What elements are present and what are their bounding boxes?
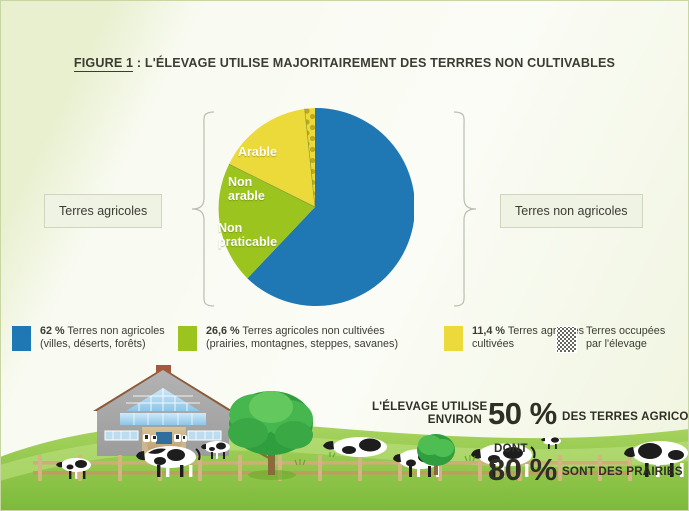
bottom-statistics: L'ÉLEVAGE UTILISE ENVIRON 50 % DES TERRE… [372, 398, 689, 488]
legend-swatch-dotted-pattern [556, 326, 577, 353]
legend-line2: cultivées [472, 338, 514, 350]
figure-label: FIGURE 1 [74, 56, 133, 72]
legend-value: 11,4 % [472, 325, 505, 337]
legend-line2: (villes, déserts, forêts) [40, 338, 146, 350]
stat-caption-sont-des-prairies: SONT DES PRAIRIES [562, 465, 683, 478]
pie-wedge-label-non-arable-line1: Non [228, 175, 252, 189]
legend-text: 26,6 % Terres agricoles non cultivées (p… [206, 325, 398, 351]
legend-line1: Terres occupées [586, 325, 665, 337]
pie-wedge-label-non-praticable-line2: praticable [218, 235, 277, 249]
brace-right-icon [452, 110, 478, 308]
barn-window-right [188, 431, 221, 440]
pie-wedge-label-non-arable-line2: arable [228, 189, 265, 203]
figure-title-text: L'ÉLEVAGE UTILISE MAJORITAIREMENT DES TE… [145, 56, 615, 70]
label-box-terres-agricoles: Terres agricoles [44, 194, 162, 228]
stat-value-50: 50 % [488, 398, 557, 429]
legend-swatch-yellow [444, 326, 463, 351]
brace-left-icon [190, 110, 216, 308]
infographic-page: FIGURE 1 : L'ÉLEVAGE UTILISE MAJORITAIRE… [0, 0, 689, 511]
pie-wedge-label-non-praticable-line1: Non [218, 221, 242, 235]
pie-chart: Arable Non arable Non praticable [216, 108, 414, 306]
legend-line1: Terres agricoles non cultivées [240, 325, 385, 337]
legend-line2: par l'élevage [586, 338, 647, 350]
legend-item-terres-agricoles-non-cultivees: 26,6 % Terres agricoles non cultivées (p… [178, 325, 398, 351]
legend-text: 62 % Terres non agricoles (villes, déser… [40, 325, 165, 351]
stat-lead-line1: L'ÉLEVAGE UTILISE [372, 400, 487, 413]
legend-value: 26,6 % [206, 325, 240, 337]
chart-legend: 62 % Terres non agricoles (villes, déser… [0, 325, 689, 361]
stat-lead-line2: ENVIRON [428, 413, 482, 426]
legend-line1: Terres non agricoles [65, 325, 165, 337]
label-box-terres-non-agricoles: Terres non agricoles [500, 194, 643, 228]
stat-value-80: 80 % [488, 454, 557, 485]
legend-text: Terres occupées par l'élevage [586, 325, 665, 351]
figure-separator: : [133, 56, 145, 70]
page-title: FIGURE 1 : L'ÉLEVAGE UTILISE MAJORITAIRE… [0, 56, 689, 70]
pie-wedge-label-non-praticable: Non praticable [218, 222, 277, 249]
legend-item-terres-occupees-elevage: Terres occupées par l'élevage [556, 325, 665, 353]
stat-lead-text: L'ÉLEVAGE UTILISE ENVIRON [372, 400, 482, 426]
legend-swatch-blue [12, 326, 31, 351]
barn-back-door [156, 432, 172, 444]
pie-wedge-label-non-arable: Non arable [228, 176, 265, 203]
barn-window-left [105, 431, 138, 440]
legend-swatch-green [178, 326, 197, 351]
stat-caption-des-terres-agricoles: DES TERRES AGRICOLES [562, 410, 689, 423]
legend-line2: (prairies, montagnes, steppes, savanes) [206, 338, 398, 350]
legend-item-terres-non-agricoles: 62 % Terres non agricoles (villes, déser… [12, 325, 165, 351]
legend-value: 62 % [40, 325, 65, 337]
pie-wedge-label-arable: Arable [238, 146, 277, 160]
